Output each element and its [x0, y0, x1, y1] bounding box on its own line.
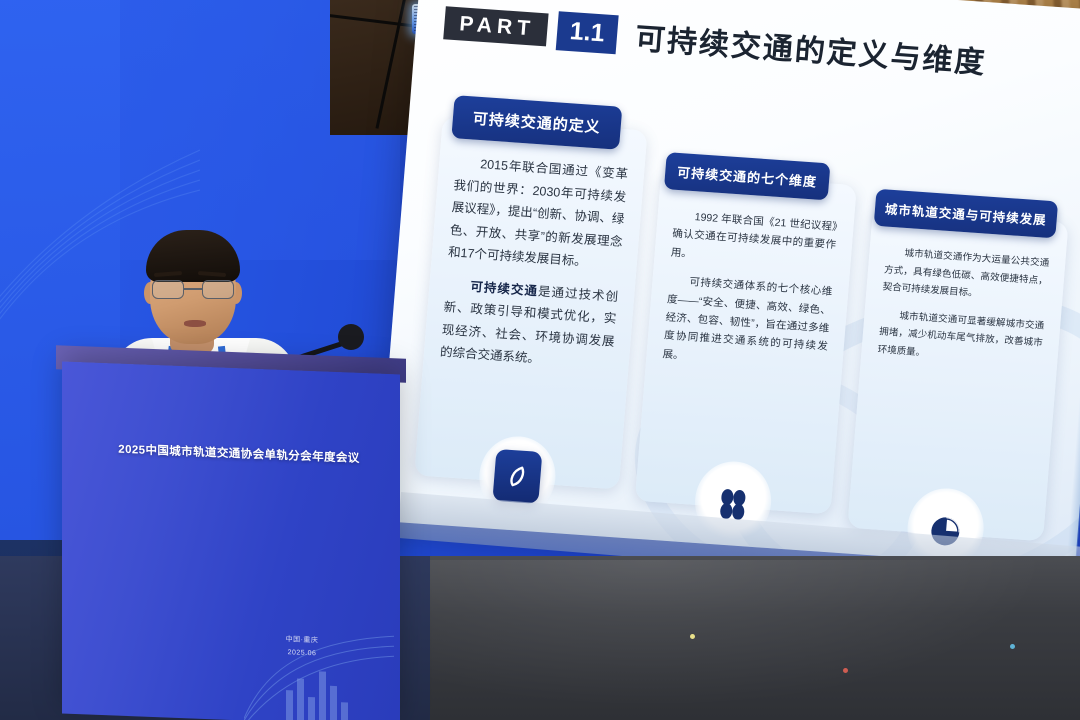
eyeglasses-icon	[150, 280, 238, 300]
podium-skyline-graphic	[244, 610, 394, 720]
glasses-bridge	[184, 288, 202, 290]
floor-marker-dot	[690, 634, 695, 639]
speaker-mouth	[184, 320, 206, 327]
microphone-icon	[338, 324, 364, 350]
podium-banner-text: 2025中国城市轨道交通协会单轨分会年度会议	[114, 441, 364, 467]
card-heading: 可持续交通的定义	[451, 95, 622, 150]
floor-light-glow	[420, 560, 1080, 720]
card-paragraph: 可持续交通体系的七个核心维度——“安全、便捷、高效、绿色、经济、包容、韧性”，旨…	[662, 272, 833, 375]
card-heading: 可持续交通的七个维度	[664, 152, 831, 200]
lens-right	[202, 280, 234, 299]
slide-header: PART 1.1 可持续交通的定义与维度	[443, 0, 989, 82]
card-seven-dimensions: 可持续交通的七个维度 1992 年联合国《21 世纪议程》确认交通在可持续发展中…	[635, 172, 857, 515]
floor-marker-dot	[843, 668, 848, 673]
part-label: PART	[443, 6, 548, 46]
podium: 2025中国城市轨道交通协会单轨分会年度会议 中国·重庆 2025.06	[62, 362, 400, 720]
leaf-icon	[492, 449, 542, 504]
card-paragraph: 城市轨道交通可显著缓解城市交通拥堵，减少机动车尾气排放，改善城市环境质量。	[877, 306, 1045, 370]
card-paragraph: 可持续交通是通过技术创新、政策引导和模式优化，实现经济、社会、环境协调发展的综合…	[439, 273, 619, 375]
page-title: 可持续交通的定义与维度	[634, 14, 989, 82]
slide-card-group: 可持续交通的定义 2015年联合国通过《变革我们的世界：2030年可持续发展议程…	[414, 82, 1080, 525]
card-heading: 城市轨道交通与可持续发展	[874, 189, 1059, 239]
card-bold-lead: 可持续交通	[470, 279, 539, 298]
floor-marker-dot	[1010, 644, 1015, 649]
lens-left	[152, 280, 184, 299]
card-paragraph: 城市轨道交通作为大运量公共交通方式，具有绿色低碳、高效便捷特点，契合可持续发展目…	[882, 244, 1050, 308]
conference-stage-photo: PART 1.1 可持续交通的定义与维度 可持续交通的定义 2015年联合国通过…	[0, 0, 1080, 720]
card-paragraph: 2015年联合国通过《变革我们的世界：2030年可持续发展议程》，提出“创新、协…	[447, 151, 629, 275]
part-number-badge: 1.1	[555, 11, 619, 54]
card-urban-rail: 城市轨道交通与可持续发展 城市轨道交通作为大运量公共交通方式，具有绿色低碳、高效…	[847, 209, 1068, 542]
card-definition: 可持续交通的定义 2015年联合国通过《变革我们的世界：2030年可持续发展议程…	[414, 116, 647, 489]
projection-screen: PART 1.1 可持续交通的定义与维度 可持续交通的定义 2015年联合国通过…	[376, 0, 1080, 570]
leaf-icon-glyph	[505, 463, 529, 490]
card-paragraph: 1992 年联合国《21 世纪议程》确认交通在可持续发展中的重要作用。	[670, 207, 838, 273]
podium-subtext: 中国·重庆 2025.06	[242, 632, 362, 662]
